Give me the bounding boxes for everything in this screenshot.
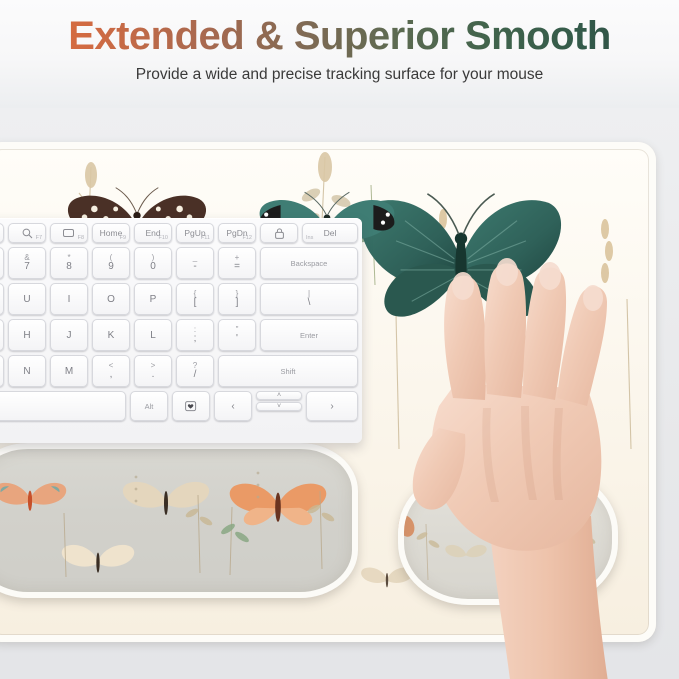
key-pgdn-sub: F12 bbox=[243, 235, 252, 241]
key-j-label: J bbox=[67, 330, 72, 341]
key-m[interactable]: M bbox=[50, 355, 88, 387]
key-alt-label: Alt bbox=[145, 402, 154, 411]
key-bracket-right[interactable]: } ] bbox=[218, 283, 256, 315]
product-photo: F6 F7 F8 Home F9 End F10 bbox=[0, 108, 679, 679]
key-arrow-right-label: › bbox=[330, 401, 333, 412]
keyboard-bottom-row: B N M < , > . ? / Shift bbox=[0, 355, 358, 387]
key-del[interactable]: Del Ins bbox=[302, 223, 358, 243]
key-b[interactable]: B bbox=[0, 355, 4, 387]
key-h-label: H bbox=[23, 330, 30, 341]
key-y[interactable]: Y bbox=[0, 283, 4, 315]
key-bracket-right-bottom: ] bbox=[236, 298, 239, 308]
key-backspace[interactable]: Backspace bbox=[260, 247, 358, 279]
hand-on-mousepad bbox=[395, 258, 679, 679]
key-quote-bottom: ' bbox=[236, 334, 238, 344]
keyboard[interactable]: F6 F7 F8 Home F9 End F10 bbox=[0, 218, 362, 443]
key-alt-right[interactable]: Alt bbox=[130, 391, 168, 421]
key-shift-label: Shift bbox=[280, 367, 295, 376]
key-comma[interactable]: < , bbox=[92, 355, 130, 387]
key-u[interactable]: U bbox=[8, 283, 46, 315]
lock-icon bbox=[275, 228, 284, 239]
key-backslash-bottom: \ bbox=[308, 298, 311, 308]
key-u-label: U bbox=[23, 294, 30, 305]
key-backspace-label: Backspace bbox=[291, 259, 328, 268]
key-period[interactable]: > . bbox=[134, 355, 172, 387]
key-arrow-down[interactable]: ˅ bbox=[256, 402, 302, 411]
key-enter-label: Enter bbox=[300, 331, 318, 340]
key-h[interactable]: H bbox=[8, 319, 46, 351]
key-semicolon[interactable]: : ; bbox=[176, 319, 214, 351]
keyboard-home-row: G H J K L : ; " ' Enter bbox=[0, 319, 358, 351]
key-menu[interactable] bbox=[172, 391, 210, 421]
key-enter[interactable]: Enter bbox=[260, 319, 358, 351]
key-equals-bottom: = bbox=[234, 262, 240, 272]
key-f7-sub: F7 bbox=[36, 235, 42, 241]
key-o[interactable]: O bbox=[92, 283, 130, 315]
promo-header: Extended & Superior Smooth Provide a wid… bbox=[0, 0, 679, 108]
key-7[interactable]: & 7 bbox=[8, 247, 46, 279]
key-lock[interactable] bbox=[260, 223, 298, 243]
key-arrow-left[interactable]: ‹ bbox=[214, 391, 252, 421]
key-shift-right[interactable]: Shift bbox=[218, 355, 358, 387]
key-f6[interactable]: F6 bbox=[0, 223, 4, 243]
key-m-label: M bbox=[65, 366, 73, 377]
key-arrow-down-label: ˅ bbox=[277, 403, 281, 410]
key-pgdn[interactable]: PgDn F12 bbox=[218, 223, 256, 243]
key-del-label: Del bbox=[324, 228, 337, 238]
key-k[interactable]: K bbox=[92, 319, 130, 351]
key-0[interactable]: ) 0 bbox=[134, 247, 172, 279]
key-8-bottom: 8 bbox=[66, 262, 72, 272]
key-j[interactable]: J bbox=[50, 319, 88, 351]
key-end[interactable]: End F10 bbox=[134, 223, 172, 243]
key-o-label: O bbox=[107, 294, 115, 305]
key-l[interactable]: L bbox=[134, 319, 172, 351]
key-arrow-vertical-stack[interactable]: ˄ ˅ bbox=[256, 391, 302, 421]
key-arrow-right[interactable]: › bbox=[306, 391, 358, 421]
key-arrow-up[interactable]: ˄ bbox=[256, 391, 302, 400]
key-del-sub: Ins bbox=[306, 235, 313, 241]
key-minus[interactable]: _ - bbox=[176, 247, 214, 279]
keyboard-space-row: Alt ‹ ˄ ˅ › bbox=[0, 391, 358, 421]
key-p-label: P bbox=[150, 294, 157, 305]
key-period-bottom: . bbox=[152, 370, 155, 380]
key-home-sub: F9 bbox=[120, 235, 126, 241]
key-p[interactable]: P bbox=[134, 283, 172, 315]
key-9-bottom: 9 bbox=[108, 262, 114, 272]
page-title: Extended & Superior Smooth bbox=[0, 14, 679, 59]
key-f8-sub: F8 bbox=[78, 235, 84, 241]
wrist-rest-rim bbox=[0, 443, 358, 598]
display-icon bbox=[63, 229, 75, 238]
key-l-label: L bbox=[150, 330, 156, 341]
key-space[interactable] bbox=[0, 391, 126, 421]
page-subtitle: Provide a wide and precise tracking surf… bbox=[0, 66, 679, 84]
key-quote[interactable]: " ' bbox=[218, 319, 256, 351]
keyboard-number-row: ^ 6 & 7 * 8 ( 9 ) 0 _ - + = Backspace bbox=[0, 247, 358, 279]
heart-menu-icon bbox=[185, 401, 197, 412]
key-semicolon-bottom: ; bbox=[194, 334, 197, 344]
key-n[interactable]: N bbox=[8, 355, 46, 387]
key-7-bottom: 7 bbox=[24, 262, 30, 272]
key-equals[interactable]: + = bbox=[218, 247, 256, 279]
key-home[interactable]: Home F9 bbox=[92, 223, 130, 243]
search-icon bbox=[22, 228, 33, 239]
key-bracket-left-bottom: [ bbox=[194, 298, 197, 308]
keyboard-wrist-rest bbox=[0, 443, 358, 598]
key-slash[interactable]: ? / bbox=[176, 355, 214, 387]
key-g[interactable]: G bbox=[0, 319, 4, 351]
key-9[interactable]: ( 9 bbox=[92, 247, 130, 279]
key-i-label: I bbox=[68, 294, 71, 305]
key-arrow-left-label: ‹ bbox=[231, 401, 234, 412]
key-arrow-up-label: ˄ bbox=[277, 392, 281, 399]
key-f8[interactable]: F8 bbox=[50, 223, 88, 243]
keyboard-function-row: F6 F7 F8 Home F9 End F10 bbox=[0, 223, 358, 243]
key-backslash[interactable]: | \ bbox=[260, 283, 358, 315]
key-8[interactable]: * 8 bbox=[50, 247, 88, 279]
key-0-bottom: 0 bbox=[150, 262, 156, 272]
key-minus-bottom: - bbox=[193, 262, 196, 272]
key-pgup-sub: F11 bbox=[201, 235, 210, 241]
key-end-sub: F10 bbox=[159, 235, 168, 241]
key-k-label: K bbox=[108, 330, 115, 341]
key-6[interactable]: ^ 6 bbox=[0, 247, 4, 279]
key-n-label: N bbox=[23, 366, 30, 377]
key-comma-bottom: , bbox=[110, 370, 113, 380]
key-i[interactable]: I bbox=[50, 283, 88, 315]
keyboard-qwerty-row: Y U I O P { [ } ] | \ bbox=[0, 283, 358, 315]
key-f7[interactable]: F7 bbox=[8, 223, 46, 243]
key-bracket-left[interactable]: { [ bbox=[176, 283, 214, 315]
key-slash-bottom: / bbox=[194, 370, 197, 380]
key-pgup[interactable]: PgUp F11 bbox=[176, 223, 214, 243]
